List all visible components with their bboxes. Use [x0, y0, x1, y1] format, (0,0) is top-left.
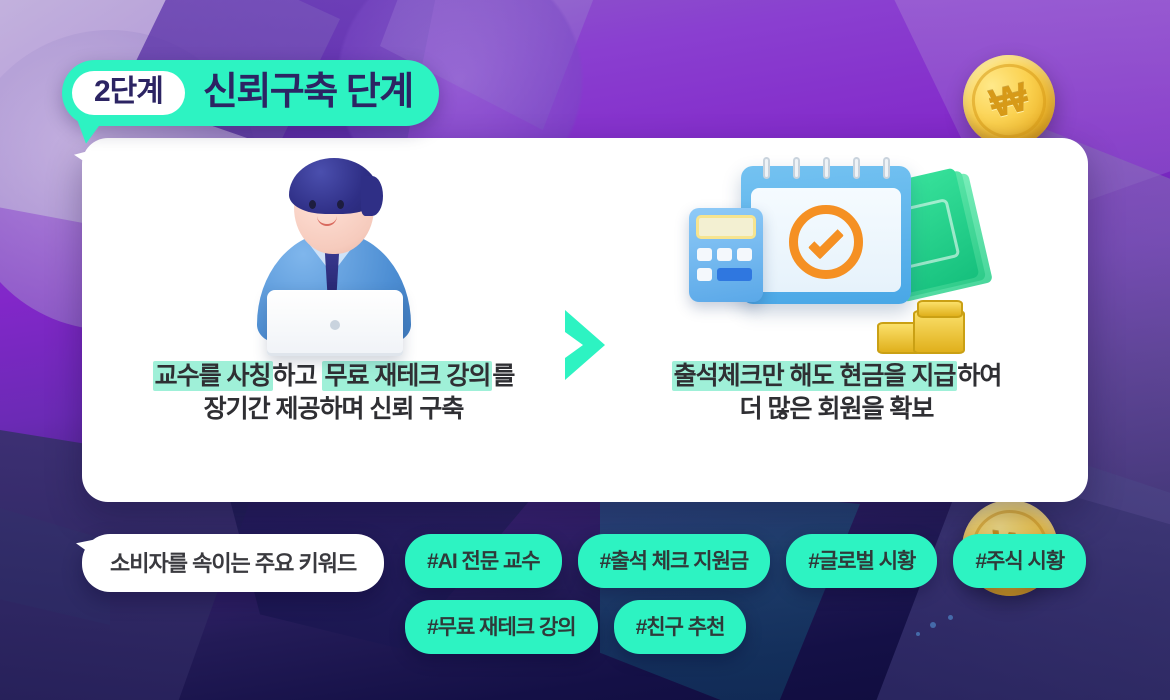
step-chip: 2단계 — [72, 71, 185, 115]
person-eye — [309, 200, 316, 209]
keyword-tag[interactable]: #글로벌 시황 — [786, 534, 937, 588]
calendar-icon — [741, 166, 911, 304]
caption-highlight: 출석체크만 해도 현금을 지급 — [672, 361, 958, 391]
laptop-icon — [267, 290, 403, 356]
check-circle-icon — [789, 205, 863, 279]
won-symbol: ₩ — [985, 75, 1033, 128]
panel-caption: 출석체크만 해도 현금을 지급하여 더 많은 회원을 확보 — [672, 360, 1002, 426]
calculator-key — [697, 268, 712, 281]
calculator-key — [737, 248, 752, 261]
calendar-ring — [883, 157, 890, 179]
person-hair — [289, 158, 379, 214]
caption-line-1: 교수를 사칭하고 무료 재테크 강의를 — [153, 360, 515, 393]
caption-line-2: 장기간 제공하며 신뢰 구축 — [153, 393, 515, 426]
calculator-enter-key — [717, 268, 752, 281]
keyword-bubble-label: 소비자를 속이는 주요 키워드 — [110, 551, 356, 576]
person-with-laptop-illustration — [82, 138, 585, 360]
calendar-check-money-illustration — [585, 138, 1088, 360]
calendar-ring — [763, 157, 770, 179]
page-title: 신뢰구축 단계 — [203, 73, 413, 114]
panel-trust-building: 교수를 사칭하고 무료 재테크 강의를 장기간 제공하며 신뢰 구축 — [82, 138, 585, 502]
caption-text: 하고 — [273, 362, 323, 390]
caption-line-2: 더 많은 회원을 확보 — [672, 393, 1002, 426]
content-card: 교수를 사칭하고 무료 재테크 강의를 장기간 제공하며 신뢰 구축 — [82, 138, 1088, 502]
keyword-tag[interactable]: #무료 재테크 강의 — [405, 600, 598, 654]
chevron-right-icon — [559, 306, 611, 384]
calculator-key — [697, 248, 712, 261]
calendar-page — [751, 188, 901, 292]
coin-stack-icon — [877, 298, 969, 354]
coin-stack-layer — [917, 300, 963, 318]
keyword-tag[interactable]: #주식 시황 — [953, 534, 1086, 588]
keyword-tag[interactable]: #친구 추천 — [614, 600, 747, 654]
keyword-bubble: 소비자를 속이는 주요 키워드 — [82, 534, 384, 592]
panel-caption: 교수를 사칭하고 무료 재테크 강의를 장기간 제공하며 신뢰 구축 — [153, 360, 515, 426]
calendar-ring — [823, 157, 830, 179]
keyword-tag-row: #AI 전문 교수 #출석 체크 지원금 #글로벌 시황 #주식 시황 — [405, 534, 1105, 588]
calculator-key — [717, 248, 732, 261]
caption-highlight: 교수를 사칭 — [153, 361, 273, 391]
panel-cash-reward: 출석체크만 해도 현금을 지급하여 더 많은 회원을 확보 — [585, 138, 1088, 502]
step-title-badge: 2단계 신뢰구축 단계 — [62, 60, 439, 126]
keyword-tag[interactable]: #출석 체크 지원금 — [578, 534, 771, 588]
calendar-ring — [853, 157, 860, 179]
check-mark-icon — [807, 224, 843, 260]
calculator-screen — [696, 215, 756, 239]
calendar-ring — [793, 157, 800, 179]
keyword-tag[interactable]: #AI 전문 교수 — [405, 534, 562, 588]
infographic-canvas: ₩ ₩ 2단계 신뢰구축 단계 — [0, 0, 1170, 700]
keyword-tag-row: #무료 재테크 강의 #친구 추천 — [405, 600, 1105, 654]
caption-line-1: 출석체크만 해도 현금을 지급하여 — [672, 360, 1002, 393]
caption-text: 를 — [492, 362, 514, 390]
caption-highlight: 무료 재테크 강의 — [322, 361, 492, 391]
keyword-tag-list: #AI 전문 교수 #출석 체크 지원금 #글로벌 시황 #주식 시황 #무료 … — [405, 534, 1105, 666]
calculator-icon — [689, 208, 763, 302]
person-eye — [337, 200, 344, 209]
caption-text: 하여 — [957, 362, 1001, 390]
